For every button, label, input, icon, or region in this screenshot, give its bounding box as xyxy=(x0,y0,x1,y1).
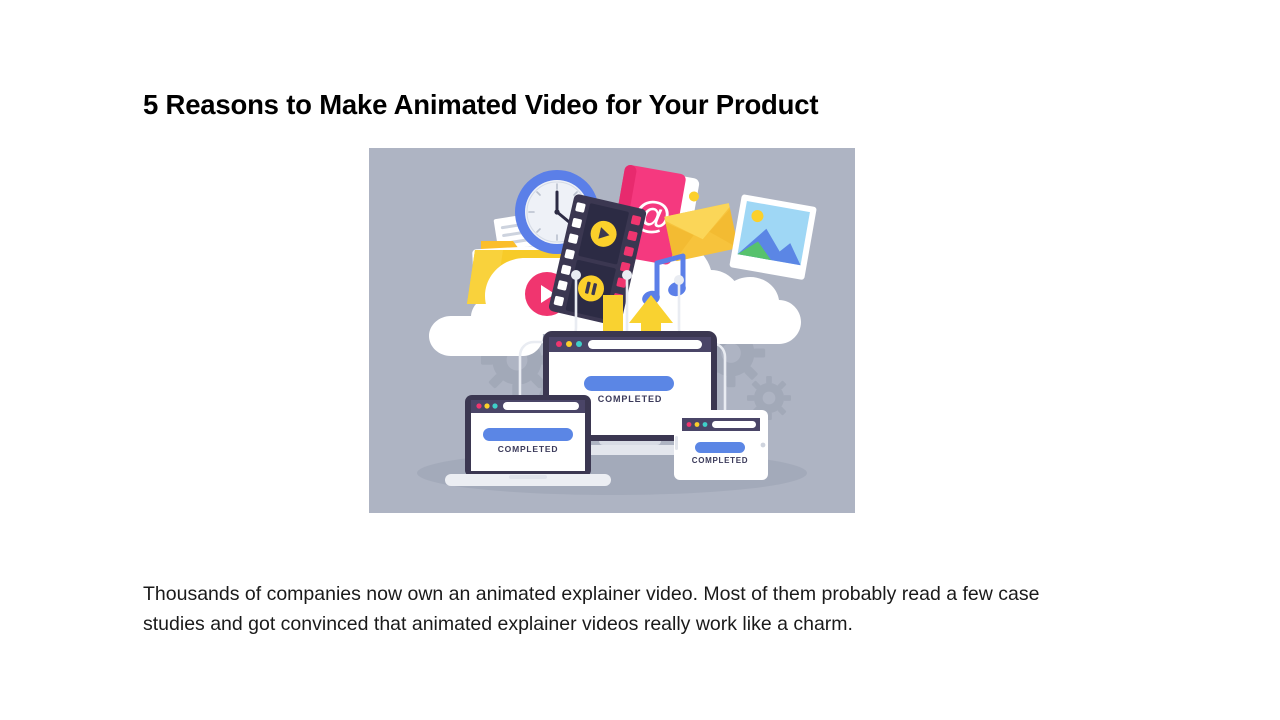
illustration-image: @ xyxy=(369,148,855,513)
tablet-status-label: COMPLETED xyxy=(692,456,749,465)
progress-bar-icon xyxy=(584,376,674,391)
tablet-icon: COMPLETED xyxy=(674,410,768,480)
monitor-status-label: COMPLETED xyxy=(598,394,663,404)
laptop-icon: COMPLETED xyxy=(445,395,611,486)
page-title: 5 Reasons to Make Animated Video for You… xyxy=(143,88,1143,121)
progress-bar-icon xyxy=(483,428,573,441)
laptop-status-label: COMPLETED xyxy=(498,444,559,454)
document-page: 5 Reasons to Make Animated Video for You… xyxy=(0,0,1280,720)
progress-bar-icon xyxy=(695,442,745,453)
illustration-svg: @ xyxy=(369,148,855,513)
photo-icon xyxy=(729,194,817,280)
body-paragraph: Thousands of companies now own an animat… xyxy=(143,579,1085,640)
